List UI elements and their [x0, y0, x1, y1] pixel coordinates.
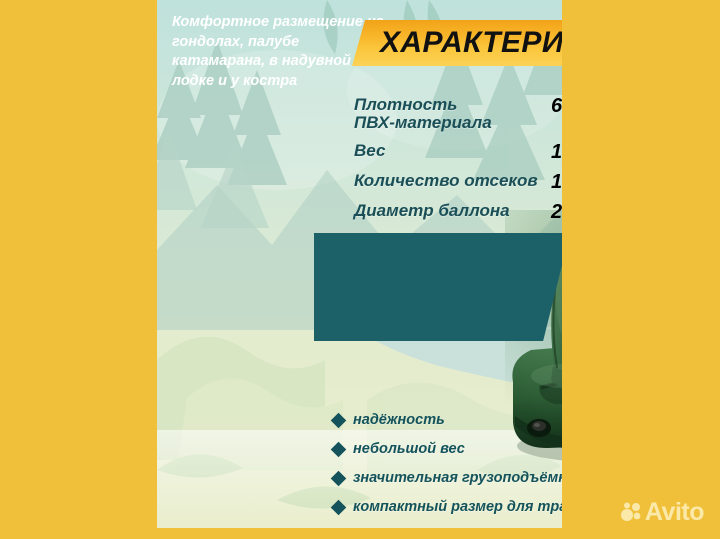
avito-watermark: Avito — [621, 498, 704, 527]
advantages-list: надёжность небольшой вес значительная гр… — [333, 412, 562, 528]
spec-value-pvc-density: 650 г/м² — [551, 96, 562, 117]
list-item: компактный размер для транспортировки — [333, 499, 562, 515]
advantage-load-capacity: значительная грузоподъёмность — [353, 470, 562, 486]
advantage-compact-size: компактный размер для транспортировки — [353, 499, 562, 515]
diamond-bullet-icon — [331, 499, 347, 515]
avito-brand-label: Avito — [645, 498, 704, 527]
product-image-panel: ХАРАКТЕРИСТИКИ ПлотностьПВХ-материала 65… — [157, 0, 562, 528]
advantage-reliability: надёжность — [353, 412, 445, 428]
spec-value-tube-diameter: 23 см — [551, 202, 562, 223]
list-item: надёжность — [333, 412, 562, 428]
spec-label-tube-diameter: Диаметр баллона — [354, 202, 551, 220]
spec-label-weight: Вес — [354, 142, 551, 160]
spec-label-pvc-density: ПлотностьПВХ-материала — [354, 96, 551, 133]
spec-row: ПлотностьПВХ-материала 650 г/м² — [354, 96, 562, 133]
spec-row: Количество отсеков 1 — [354, 172, 562, 193]
advantage-light-weight: небольшой вес — [353, 441, 465, 457]
diamond-bullet-icon — [331, 412, 347, 428]
comfort-callout-text: Комфортное размещение на гондолах, палуб… — [172, 13, 384, 91]
diamond-bullet-icon — [331, 441, 347, 457]
page-title: ХАРАКТЕРИСТИКИ — [380, 26, 562, 60]
comfort-callout-box — [314, 233, 562, 341]
list-item: небольшой вес — [333, 441, 562, 457]
spec-label-chambers: Количество отсеков — [354, 172, 551, 190]
specifications-table: ПлотностьПВХ-материала 650 г/м² Вес 1,3 … — [354, 96, 562, 232]
spec-row: Вес 1,3 кг — [354, 142, 562, 163]
characteristics-title-banner: ХАРАКТЕРИСТИКИ — [352, 20, 562, 66]
list-item: значительная грузоподъёмность — [333, 470, 562, 486]
diamond-bullet-icon — [331, 470, 347, 486]
spec-row: Диаметр баллона 23 см — [354, 202, 562, 223]
spec-value-chambers: 1 — [551, 172, 562, 193]
avito-logo-dots-icon — [621, 502, 642, 523]
spec-value-weight: 1,3 кг — [551, 142, 562, 163]
